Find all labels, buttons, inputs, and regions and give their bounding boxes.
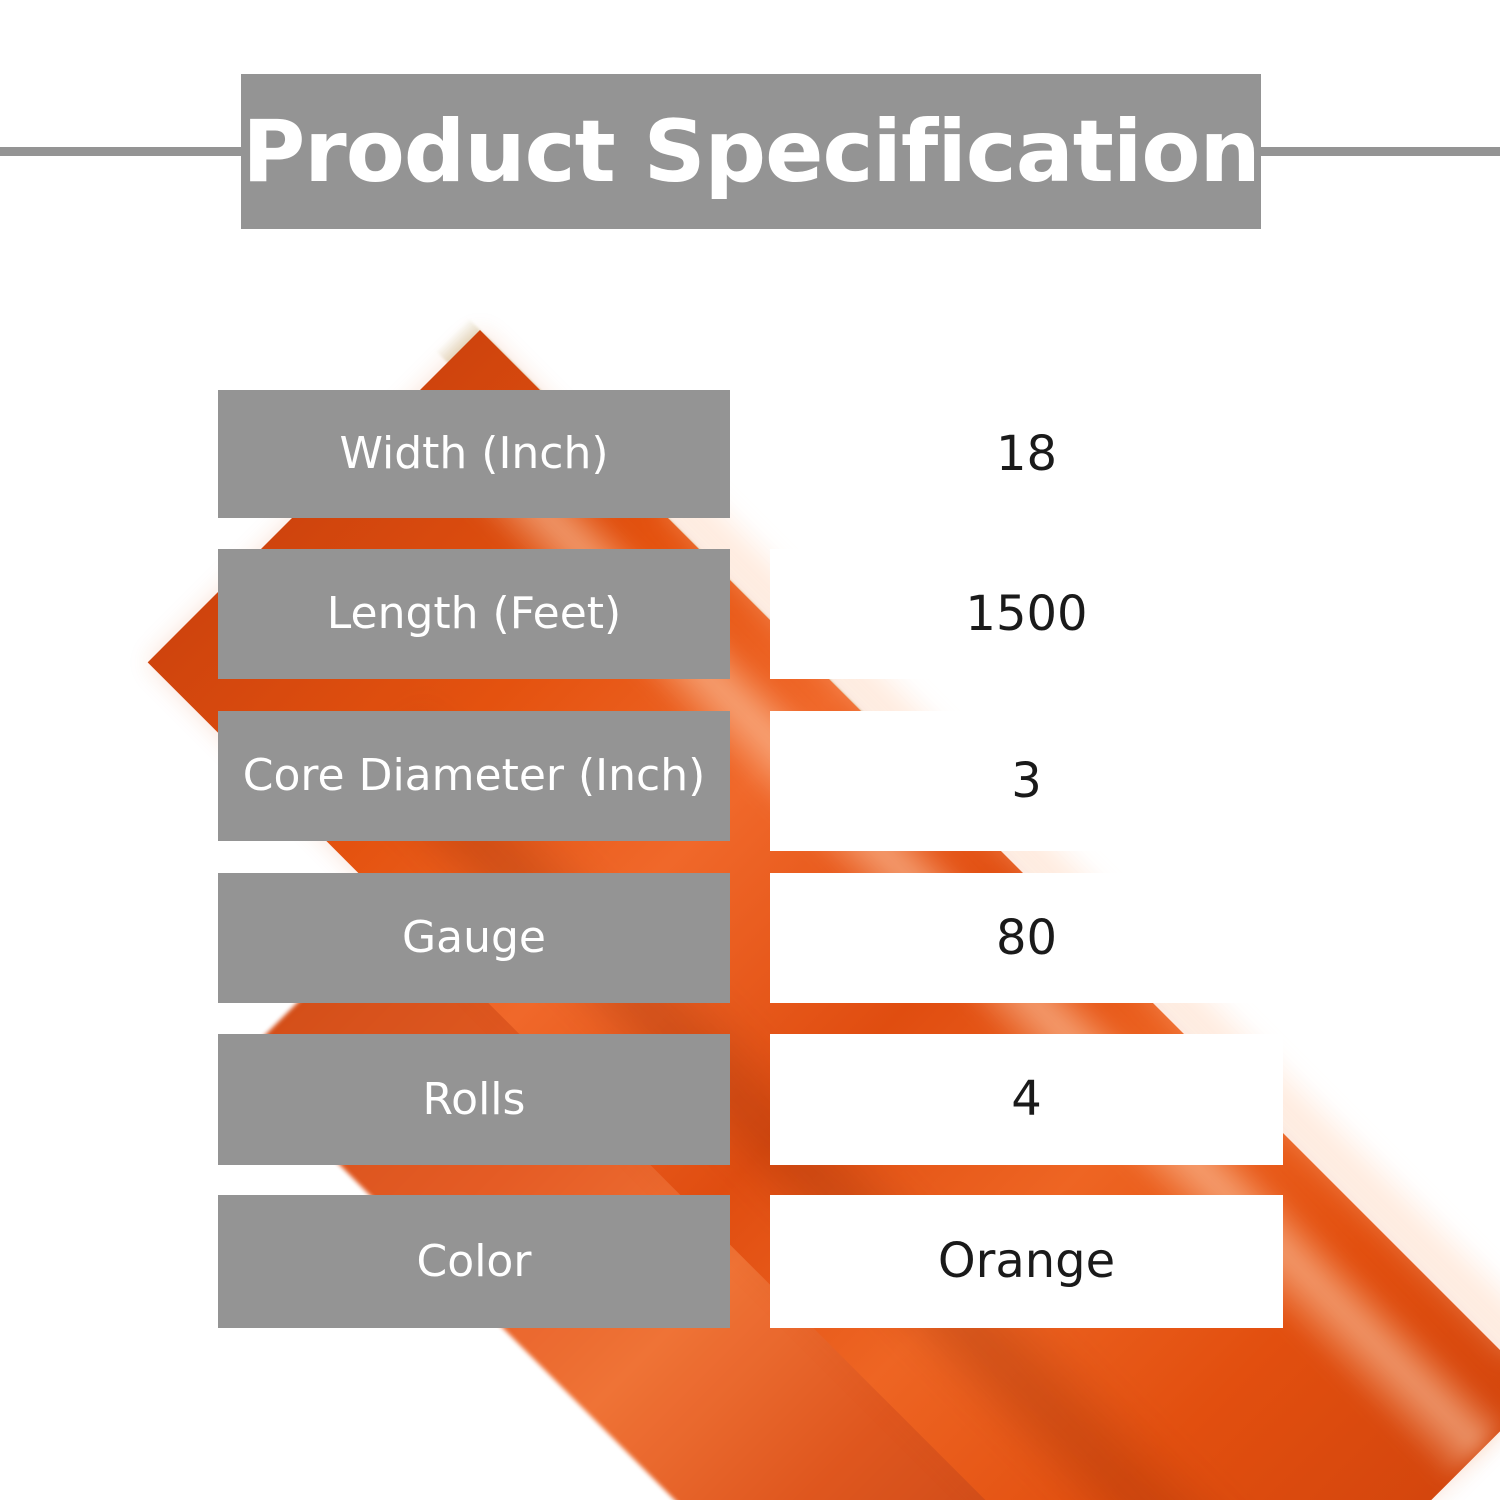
spec-label-length: Length (Feet): [218, 549, 730, 679]
spec-value-color: Orange: [770, 1195, 1283, 1328]
spec-label-core-diameter: Core Diameter (Inch): [218, 711, 730, 841]
spec-value-length: 1500: [770, 549, 1283, 679]
spec-label-gauge: Gauge: [218, 873, 730, 1003]
spec-value-core-diameter: 3: [770, 711, 1283, 851]
spec-label-width: Width (Inch): [218, 390, 730, 518]
spec-value-rolls: 4: [770, 1034, 1283, 1165]
spec-value-gauge: 80: [770, 873, 1283, 1003]
product-specification-graphic: Product Specification Width (Inch) 18 Le…: [0, 0, 1500, 1500]
spec-label-rolls: Rolls: [218, 1034, 730, 1165]
spec-label-color: Color: [218, 1195, 730, 1328]
spec-value-width: 18: [770, 390, 1283, 518]
specification-table: Width (Inch) 18 Length (Feet) 1500 Core …: [0, 0, 1500, 1500]
